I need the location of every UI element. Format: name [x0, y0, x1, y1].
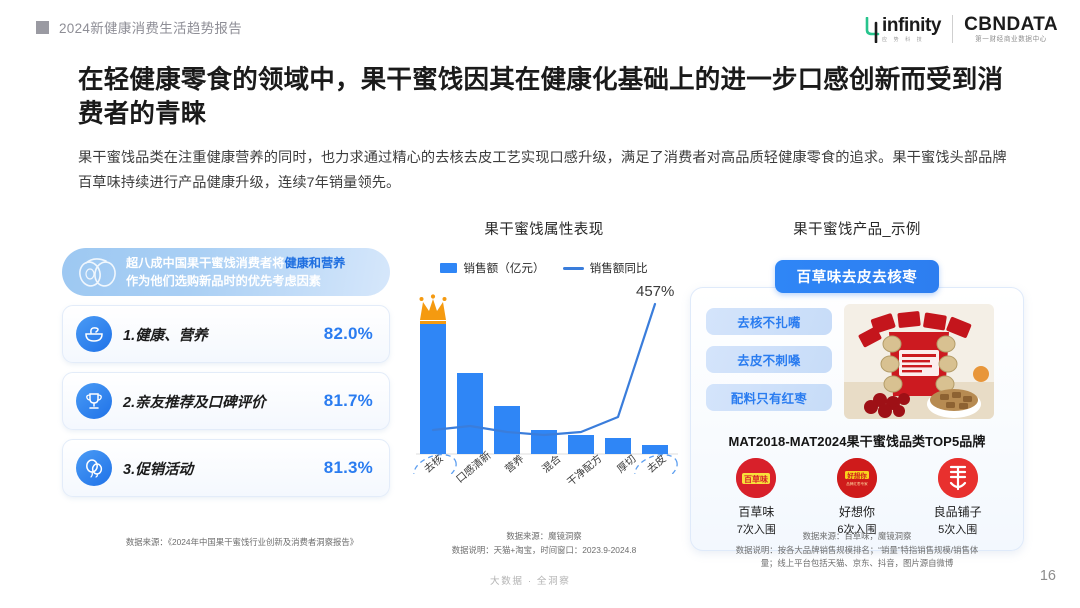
right-panel-title: 果干蜜饯产品_示例 — [690, 218, 1024, 239]
factor-name: 健康、营养 — [135, 328, 208, 344]
insight-banner-text: 超八成中国果干蜜饯消费者将健康和营养 作为他们选购新品时的优先考虑因素 — [126, 254, 345, 290]
brand-name: 百草味 — [738, 503, 774, 520]
brand-item[interactable]: 良品铺子 5次入围 — [912, 458, 1004, 537]
bar-line-chart: 457% — [398, 282, 690, 474]
right-source-note: 数据来源：百草味，魔镜洞察 数据说明：按各大品牌销售规模排名；“销量”特指销售规… — [690, 530, 1024, 571]
product-photo — [844, 304, 994, 419]
bullet-square-icon — [36, 21, 49, 34]
bar-ganjing — [568, 435, 594, 454]
chart-x-axis-labels: 去核 口感清新 营养 混合 干净配方 厚切 去皮 — [398, 460, 690, 516]
chart-title: 果干蜜饯属性表现 — [398, 218, 690, 239]
legend-bar-label: 销售额（亿元） — [463, 260, 544, 276]
factor-label: 3.促销活动 — [123, 458, 193, 479]
crown-icon — [420, 294, 447, 324]
brand-name: 好想你 — [839, 503, 875, 520]
brand-logo-haoxiangni-icon: 好想你 品牌红枣专家 — [837, 458, 877, 498]
center-panel: 果干蜜饯属性表现 销售额（亿元） 销售额同比 457% — [398, 218, 690, 474]
factor-name: 亲友推荐及口碑评价 — [135, 395, 266, 411]
left-panel: 超八成中国果干蜜饯消费者将健康和营养 作为他们选购新品时的优先考虑因素 1.健康… — [62, 248, 390, 497]
factor-row[interactable]: 1.健康、营养 82.0% — [62, 305, 390, 363]
factor-name: 促销活动 — [135, 462, 193, 478]
legend-item-line: 销售额同比 — [563, 260, 648, 276]
right-source-line3: 量；线上平台包括天猫、京东、抖音，图片源自微博 — [690, 557, 1024, 571]
factor-label: 2.亲友推荐及口碑评价 — [123, 391, 266, 412]
infinity-wordmark: infinity 应 势 科 技 — [882, 16, 941, 43]
banner-line1-highlight: 健康和营养 — [284, 256, 345, 270]
page-number: 16 — [1040, 568, 1056, 584]
cbndata-logo: CBNDATA 第一财经商业数据中心 — [964, 15, 1058, 44]
brand-item[interactable]: 百草味 百草味 7次入围 — [710, 458, 802, 537]
brand-logo-liangpinpuzi-icon — [938, 458, 978, 498]
right-panel: 果干蜜饯产品_示例 百草味去皮去核枣 去核不扎嘴 去皮不刺嗓 配料只有红枣 — [690, 218, 1024, 551]
title-block: 在轻健康零食的领域中，果干蜜饯因其在健康化基础上的进一步口感创新而受到消费者的青… — [78, 63, 1008, 195]
factor-rank: 3. — [123, 462, 135, 478]
right-source-line1: 数据来源：百草味，魔镜洞察 — [690, 530, 1024, 544]
product-tab-wrap: 百草味去皮去核枣 — [690, 260, 1024, 293]
factor-label: 1.健康、营养 — [123, 324, 208, 345]
banner-line2: 作为他们选购新品时的优先考虑因素 — [126, 274, 321, 288]
brand-list: 百草味 百草味 7次入围 好想你 品牌红枣专家 好想你 6次入围 — [706, 458, 1008, 537]
factor-row[interactable]: 2.亲友推荐及口碑评价 81.7% — [62, 372, 390, 430]
product-tag: 去皮不刺嗓 — [706, 346, 832, 373]
factor-rank: 2. — [123, 395, 135, 411]
factor-list: 1.健康、营养 82.0% 2.亲友推荐及口碑评价 81.7% — [62, 305, 390, 497]
product-tag: 去核不扎嘴 — [706, 308, 832, 335]
logo-divider — [952, 15, 953, 43]
trophy-icon — [76, 383, 112, 419]
bar-qukhe — [420, 323, 446, 454]
svg-text:百草味: 百草味 — [744, 474, 768, 484]
cbndata-name: CBNDATA — [964, 15, 1058, 34]
svg-text:品牌红枣专家: 品牌红枣专家 — [846, 481, 868, 486]
infinity-name: infinity — [882, 16, 941, 35]
factor-value: 81.3% — [324, 458, 373, 478]
factor-row[interactable]: 3.促销活动 81.3% — [62, 439, 390, 497]
center-source-line1: 数据来源：魔镜洞察 — [398, 530, 690, 544]
balloon-icon — [76, 450, 112, 486]
cbndata-subtitle: 第一财经商业数据中心 — [975, 37, 1047, 44]
report-title: 2024新健康消费生活趋势报告 — [59, 17, 242, 37]
factor-value: 81.7% — [324, 391, 373, 411]
dried-fruit-icon — [72, 252, 124, 292]
brand-name: 良品铺子 — [934, 503, 982, 520]
product-card-top: 去核不扎嘴 去皮不刺嗓 配料只有红枣 — [706, 304, 1008, 419]
header-logos: infinity 应 势 科 技 CBNDATA 第一财经商业数据中心 — [864, 12, 1058, 46]
yoy-peak-label: 457% — [636, 283, 674, 300]
brand-item[interactable]: 好想你 品牌红枣专家 好想你 6次入围 — [811, 458, 903, 537]
brand-logo-baicaowei-icon: 百草味 — [736, 458, 776, 498]
insight-banner: 超八成中国果干蜜饯消费者将健康和营养 作为他们选购新品时的优先考虑因素 — [62, 248, 390, 296]
center-source-line2: 数据说明：天猫+淘宝，时间窗口：2023.9-2024.8 — [398, 544, 690, 558]
legend-bar-swatch — [440, 263, 457, 273]
infinity-mark-icon — [864, 17, 881, 43]
factor-rank: 1. — [123, 328, 135, 344]
infinity-subtitle: 应 势 科 技 — [882, 38, 924, 43]
legend-item-bar: 销售额（亿元） — [440, 260, 544, 276]
page-title: 在轻健康零食的领域中，果干蜜饯因其在健康化基础上的进一步口感创新而受到消费者的青… — [78, 63, 1008, 131]
product-tag: 配料只有红枣 — [706, 384, 832, 411]
legend-line-label: 销售额同比 — [590, 260, 648, 276]
svg-text:好想你: 好想你 — [846, 471, 867, 480]
factor-value: 82.0% — [324, 324, 373, 344]
bar-kougan — [457, 373, 483, 454]
product-card: 去核不扎嘴 去皮不刺嗓 配料只有红枣 — [690, 287, 1024, 551]
top5-title: MAT2018-MAT2024果干蜜饯品类TOP5品牌 — [706, 431, 1008, 450]
center-source-note: 数据来源：魔镜洞察 数据说明：天猫+淘宝，时间窗口：2023.9-2024.8 — [398, 530, 690, 557]
banner-line1-a: 超八成中国果干蜜饯消费者将 — [126, 256, 284, 270]
infinity-logo: infinity 应 势 科 技 — [864, 16, 941, 43]
left-source-note: 数据来源：《2024年中国果干蜜饯行业创新及消费者洞察报告》 — [82, 536, 402, 550]
page-header: 2024新健康消费生活趋势报告 infinity 应 势 科 技 CBNDATA… — [0, 0, 1080, 56]
chart-plot-area: 457% 去核 口感清新 营养 混合 干净配方 厚切 去皮 — [398, 282, 690, 474]
bowl-icon — [76, 316, 112, 352]
product-tag-list: 去核不扎嘴 去皮不刺嗓 配料只有红枣 — [706, 304, 832, 419]
product-name-tab[interactable]: 百草味去皮去核枣 — [775, 260, 940, 293]
header-left: 2024新健康消费生活趋势报告 — [36, 17, 242, 37]
footer-brand: 大数据 · 全洞察 — [490, 573, 571, 587]
legend-line-swatch — [563, 267, 584, 270]
right-source-line2: 数据说明：按各大品牌销售规模排名；“销量”特指销售规模/销售体 — [690, 544, 1024, 558]
page-subtitle: 果干蜜饯品类在注重健康营养的同时，也力求通过精心的去核去皮工艺实现口感升级，满足… — [78, 146, 1008, 195]
chart-legend: 销售额（亿元） 销售额同比 — [398, 260, 690, 276]
